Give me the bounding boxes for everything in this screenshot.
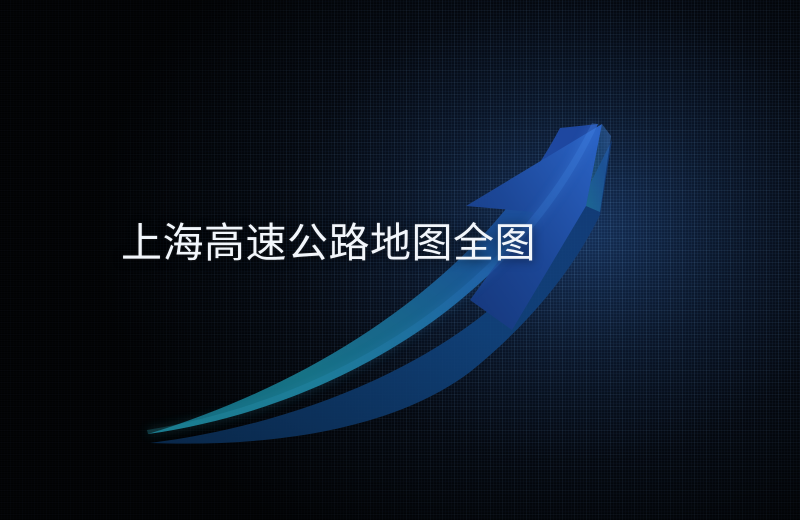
page-title: 上海高速公路地图全图	[121, 216, 536, 270]
banner-canvas: 上海高速公路地图全图	[0, 0, 800, 520]
